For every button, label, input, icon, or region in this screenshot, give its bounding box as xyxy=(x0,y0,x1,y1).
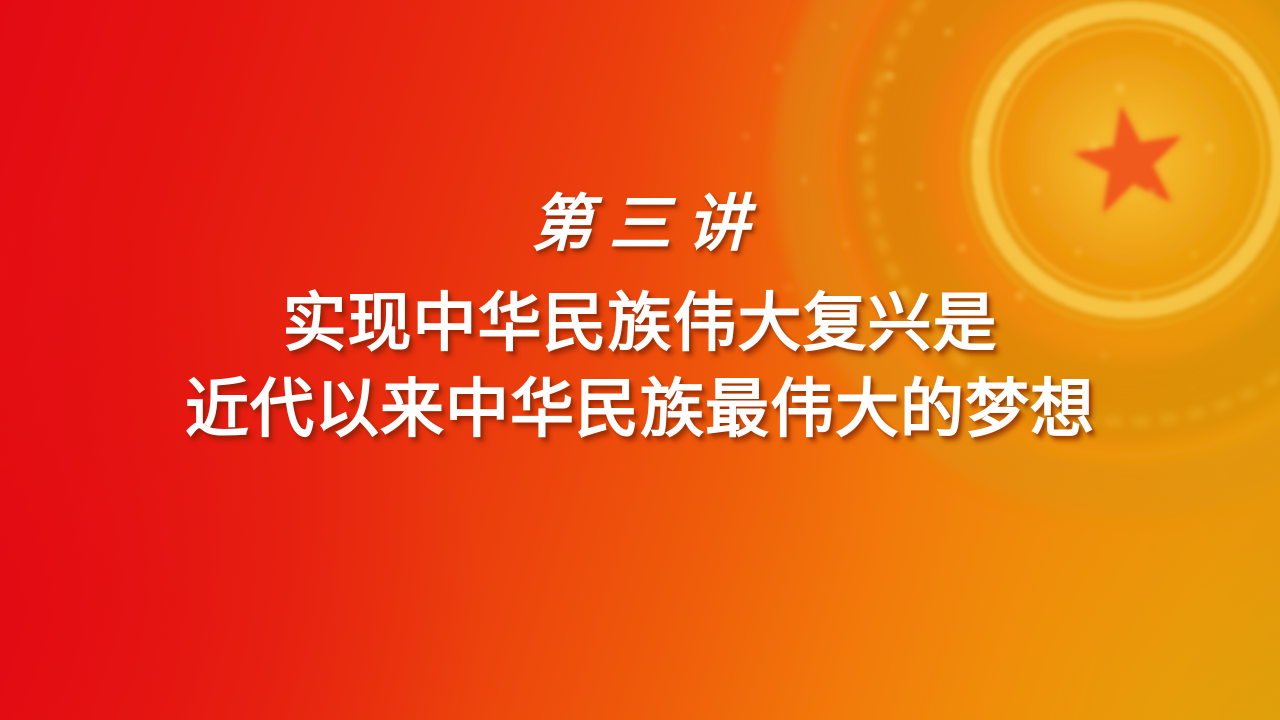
headline-line-1: 实现中华民族伟大复兴是 xyxy=(185,285,1095,363)
headline-line-2: 近代以来中华民族最伟大的梦想 xyxy=(185,371,1095,449)
slide-canvas: 第三讲 实现中华民族伟大复兴是 近代以来中华民族最伟大的梦想 xyxy=(0,0,1280,720)
slide-text-block: 第三讲 实现中华民族伟大复兴是 近代以来中华民族最伟大的梦想 xyxy=(0,0,1280,720)
lecture-number-title: 第三讲 xyxy=(515,192,765,259)
slide-headline: 实现中华民族伟大复兴是 近代以来中华民族最伟大的梦想 xyxy=(185,285,1095,449)
